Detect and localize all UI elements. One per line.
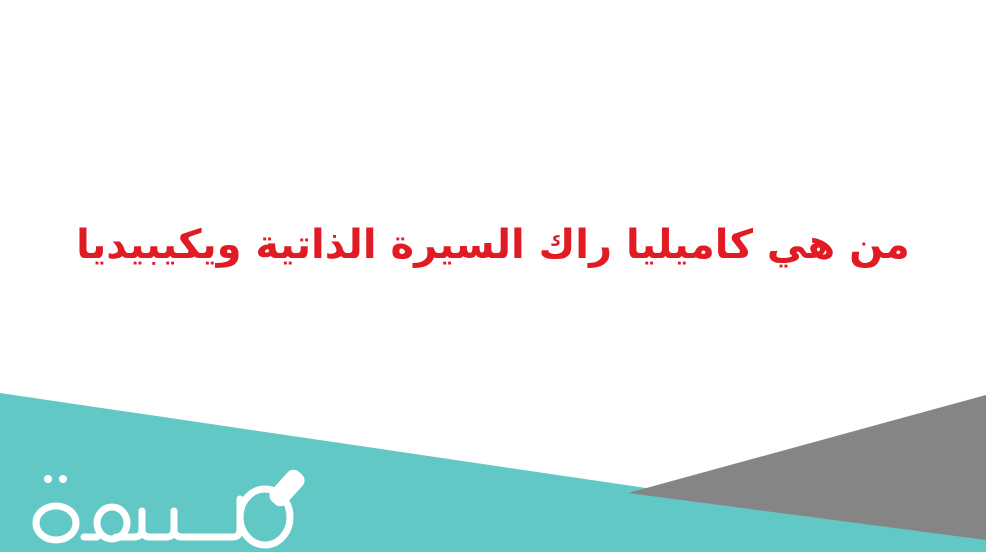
logo-letter-waw-2-loop bbox=[97, 507, 127, 539]
logo-diacritic-dots bbox=[44, 475, 67, 483]
banner-canvas: من هي كاميليا راك السيرة الذاتية ويكيبيد… bbox=[0, 0, 986, 552]
logo-letter-waw bbox=[218, 499, 240, 537]
logo-letter-seen bbox=[124, 511, 218, 537]
page-title: من هي كاميليا راك السيرة الذاتية ويكيبيد… bbox=[76, 220, 910, 270]
logo-letter-ta-marbuta bbox=[36, 506, 76, 540]
brand-logo-mark bbox=[12, 455, 322, 550]
brand-logo[interactable]: موسوعة bbox=[12, 455, 322, 550]
headline-container: من هي كاميليا راك السيرة الذاتية ويكيبيد… bbox=[0, 200, 986, 290]
